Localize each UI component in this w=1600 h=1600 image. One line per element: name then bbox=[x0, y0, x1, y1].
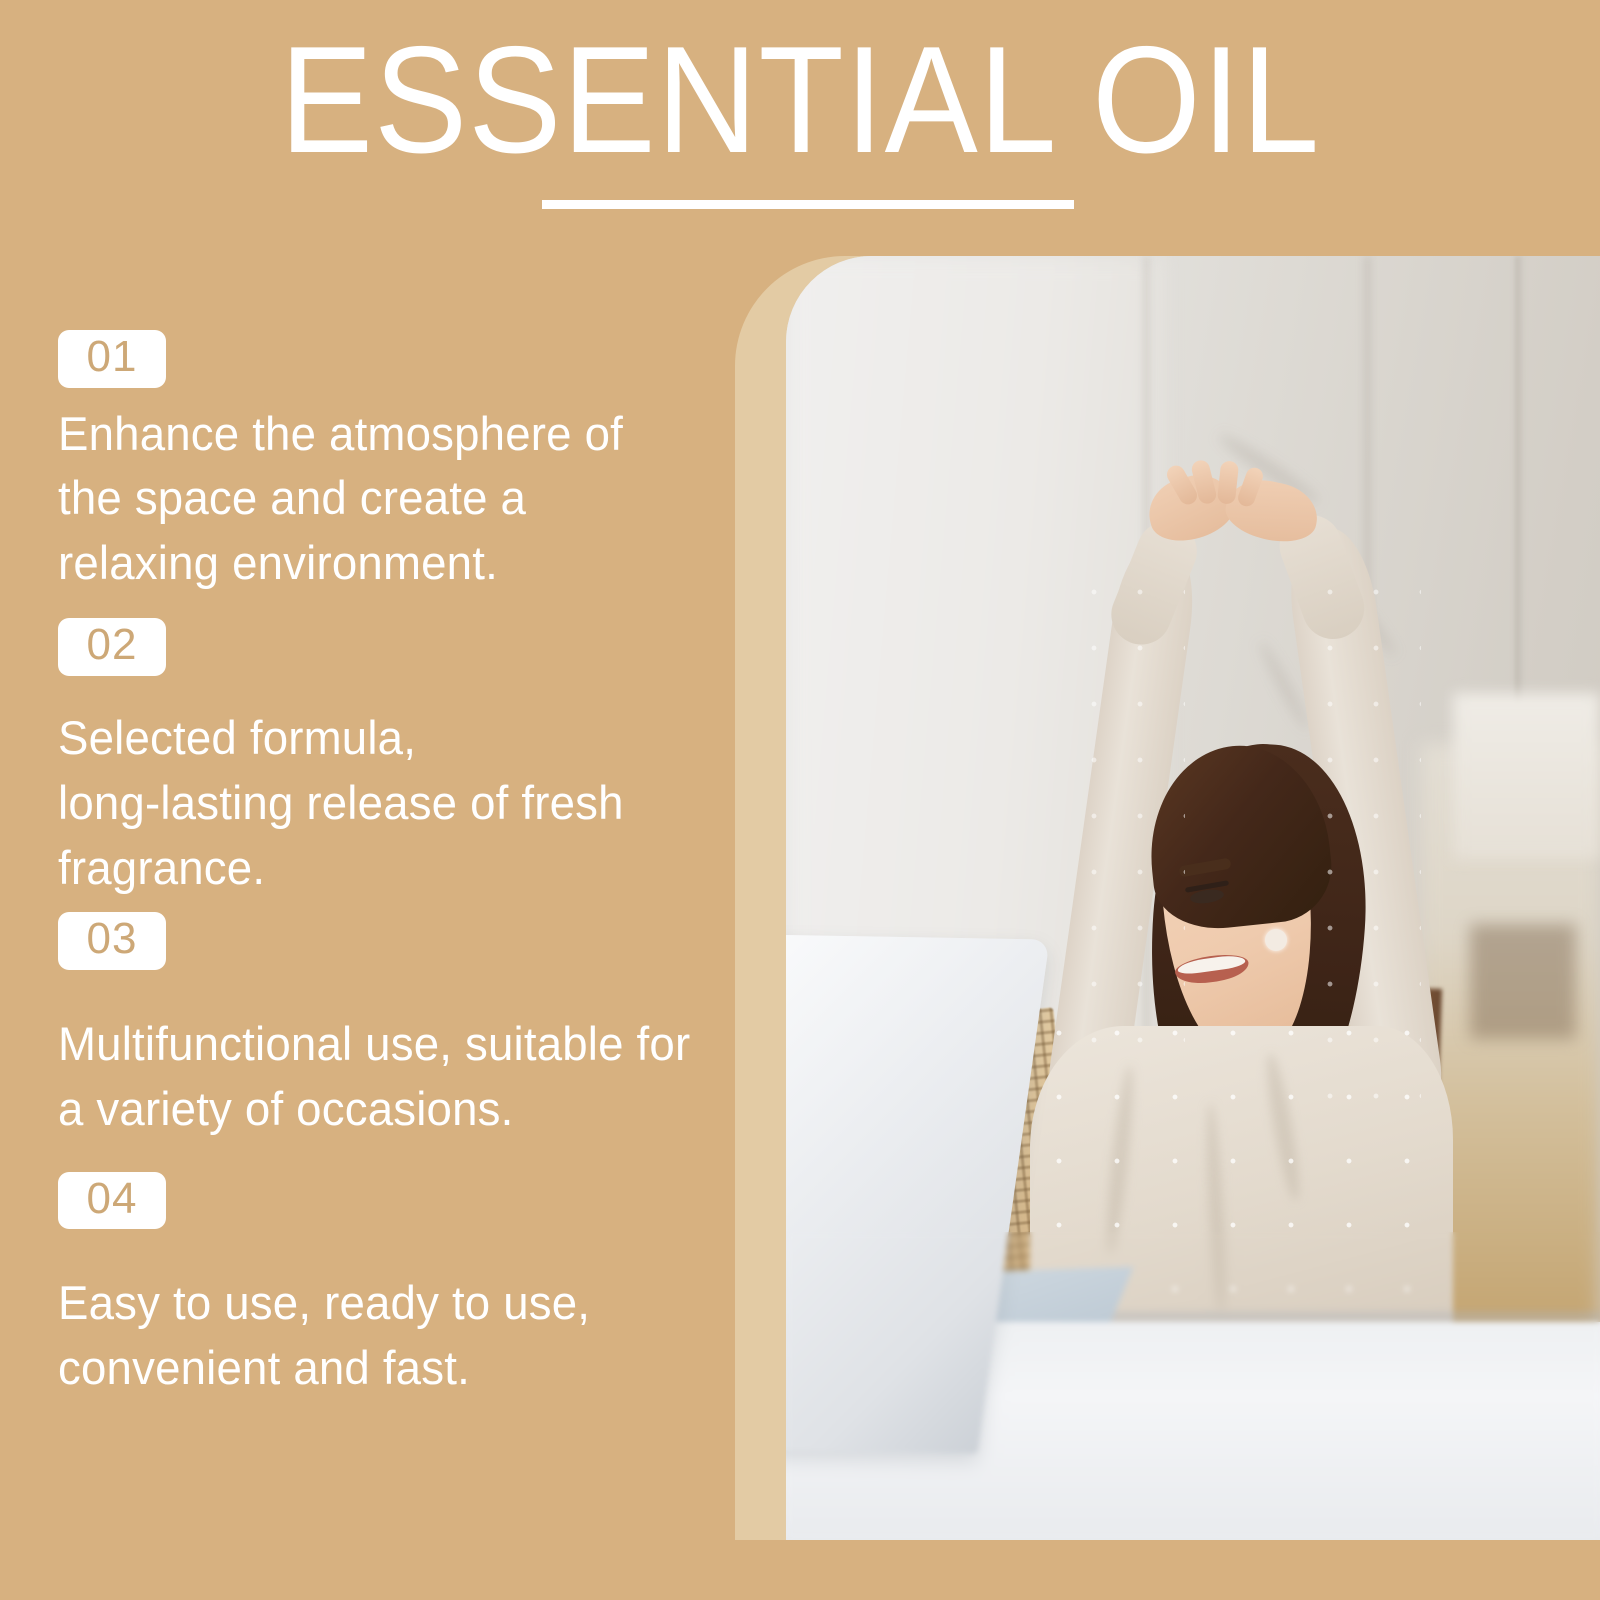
feature-badge-04: 04 bbox=[58, 1172, 166, 1230]
feature-item-04: 04 Easy to use, ready to use, convenient… bbox=[58, 1172, 718, 1401]
feature-number-02: 02 bbox=[78, 622, 146, 669]
feature-badge-01: 01 bbox=[58, 330, 166, 388]
feature-text-01: Enhance the atmosphere of the space and … bbox=[58, 402, 698, 597]
title-block: ESSENTIAL OIL bbox=[0, 0, 1600, 236]
photo-background-object bbox=[1470, 924, 1576, 1040]
feature-number-01: 01 bbox=[78, 334, 146, 381]
feature-list: 01 Enhance the atmosphere of the space a… bbox=[58, 330, 718, 1401]
feature-badge-02: 02 bbox=[58, 618, 166, 676]
page-title: ESSENTIAL OIL bbox=[64, 24, 1536, 176]
lifestyle-photo bbox=[786, 256, 1600, 1540]
photo-background-shelf bbox=[1453, 693, 1600, 860]
feature-number-04: 04 bbox=[78, 1176, 146, 1223]
feature-item-01: 01 Enhance the atmosphere of the space a… bbox=[58, 330, 718, 596]
essential-oil-product-poster: ESSENTIAL OIL 01 Enhance the atmosphere … bbox=[0, 0, 1600, 1600]
feature-number-03: 03 bbox=[78, 916, 146, 963]
lifestyle-photo-card bbox=[786, 256, 1600, 1540]
feature-text-03: Multifunctional use, suitable for a vari… bbox=[58, 1012, 698, 1142]
feature-badge-03: 03 bbox=[58, 912, 166, 970]
photo-sweater-dot-pattern bbox=[1307, 564, 1421, 1103]
title-underline-rule bbox=[542, 200, 1074, 209]
feature-item-02: 02 Selected formula, long-lasting releas… bbox=[58, 618, 718, 900]
feature-text-04: Easy to use, ready to use, convenient an… bbox=[58, 1271, 698, 1401]
feature-item-03: 03 Multifunctional use, suitable for a v… bbox=[58, 912, 718, 1141]
photo-woman-earring bbox=[1265, 929, 1287, 951]
photo-sweater-dot-pattern bbox=[1071, 564, 1185, 1078]
feature-text-02: Selected formula, long-lasting release o… bbox=[58, 706, 698, 901]
